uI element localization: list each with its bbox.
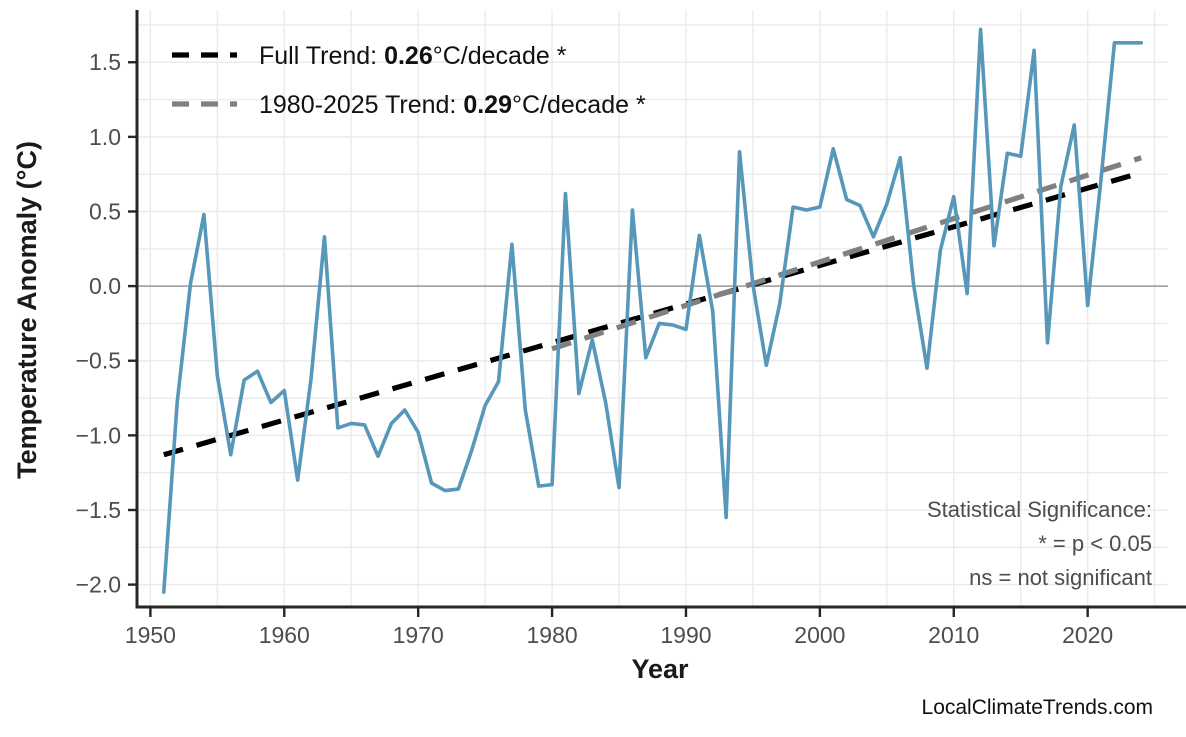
x-tick-label: 2010 — [928, 622, 979, 648]
y-tick-label: −1.0 — [76, 422, 121, 448]
chart-canvas: −2.0−1.5−1.0−0.50.00.51.01.5 19501960197… — [0, 0, 1186, 737]
x-tick-labels: 19501960197019801990200020102020 — [125, 622, 1113, 648]
annotation-line-title: Statistical Significance: — [927, 497, 1152, 522]
y-tick-label: 0.0 — [89, 273, 121, 299]
y-tick-label: −0.5 — [76, 348, 121, 374]
x-axis-title: Year — [631, 654, 689, 684]
x-tick-label: 2000 — [794, 622, 845, 648]
y-tick-label: 1.0 — [89, 124, 121, 150]
y-axis-title: Temperature Anomaly (°C) — [12, 141, 42, 479]
x-tick-label: 2020 — [1062, 622, 1113, 648]
y-tick-label: 0.5 — [89, 198, 121, 224]
annotation-line-ns: ns = not significant — [969, 565, 1152, 590]
climate-trend-figure: −2.0−1.5−1.0−0.50.00.51.01.5 19501960197… — [0, 0, 1186, 737]
x-tick-label: 1960 — [259, 622, 310, 648]
legend-label-recent-trend: 1980-2025 Trend: 0.29°C/decade * — [259, 91, 646, 119]
x-tick-label: 1950 — [125, 622, 176, 648]
trend-line-recent — [552, 158, 1141, 349]
legend-label-full-trend: Full Trend: 0.26°C/decade * — [259, 42, 567, 70]
trend-lines-group — [164, 158, 1141, 455]
significance-annotation: Statistical Significance: * = p < 0.05 n… — [927, 497, 1152, 590]
x-tick-label: 1980 — [526, 622, 577, 648]
chart-legend: Full Trend: 0.26°C/decade * 1980-2025 Tr… — [172, 42, 646, 119]
y-tick-label: −1.5 — [76, 497, 121, 523]
annotation-line-star: * = p < 0.05 — [1038, 531, 1152, 556]
source-caption: LocalClimateTrends.com — [922, 696, 1153, 719]
y-tick-labels: −2.0−1.5−1.0−0.50.00.51.01.5 — [76, 49, 121, 597]
y-tick-label: −2.0 — [76, 572, 121, 598]
x-tick-label: 1990 — [660, 622, 711, 648]
x-tick-label: 1970 — [393, 622, 444, 648]
y-tick-label: 1.5 — [89, 49, 121, 75]
